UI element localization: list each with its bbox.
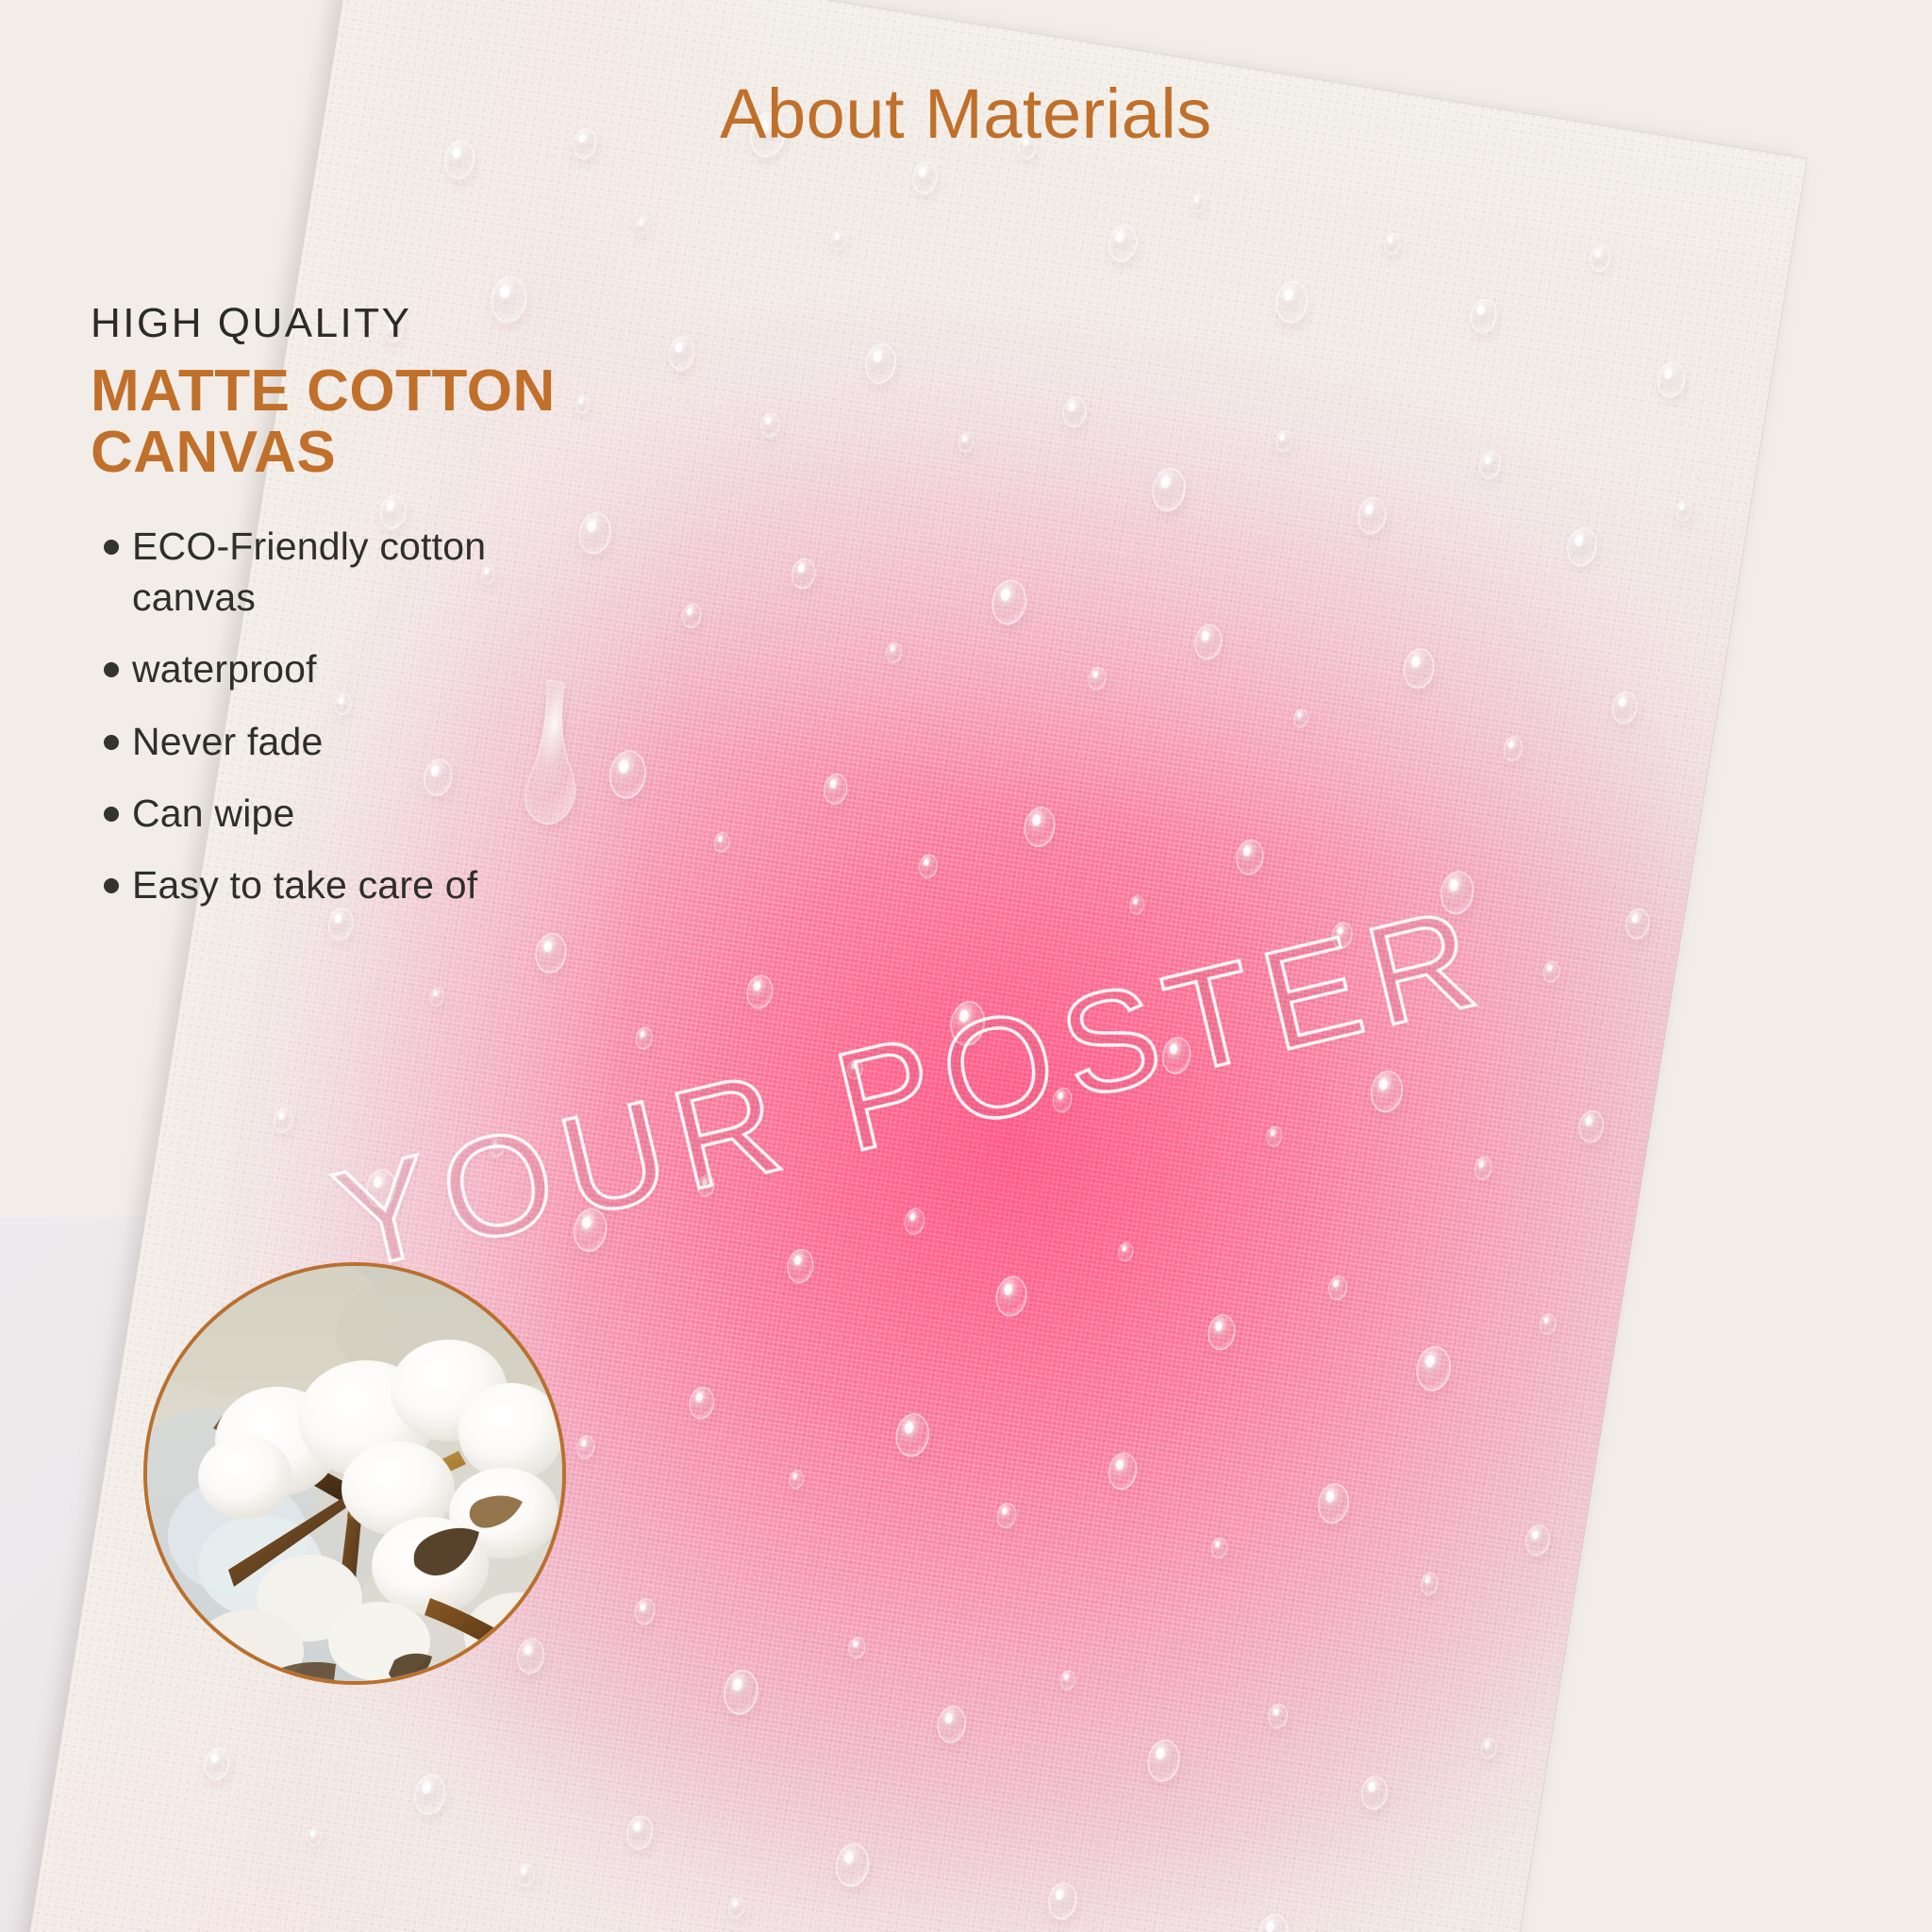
feature-label: Easy to take care of <box>132 859 477 910</box>
list-item: Easy to take care of <box>104 859 770 910</box>
left-info-panel: HIGH QUALITY MATTE COTTON CANVAS ECO-Fri… <box>91 300 770 931</box>
feature-label: ECO-Friendly cotton canvas <box>132 521 538 623</box>
bullet-dot-icon <box>104 878 119 893</box>
page-title: About Materials <box>0 74 1932 154</box>
material-headline: MATTE COTTON CANVAS <box>91 360 741 483</box>
list-item: Never fade <box>104 716 770 767</box>
bullet-dot-icon <box>104 807 119 822</box>
list-item: ECO-Friendly cotton canvas <box>104 521 770 623</box>
bullet-dot-icon <box>104 662 119 677</box>
bullet-dot-icon <box>104 735 119 750</box>
feature-label: Never fade <box>132 716 324 767</box>
feature-label: waterproof <box>132 643 317 694</box>
eyebrow-label: HIGH QUALITY <box>91 300 770 347</box>
cotton-boll-swatch <box>143 1262 566 1685</box>
cotton-boll-photo-icon <box>147 1266 562 1681</box>
feature-list: ECO-Friendly cotton canvas waterproof Ne… <box>104 521 770 910</box>
bullet-dot-icon <box>104 540 119 555</box>
list-item: waterproof <box>104 643 770 694</box>
poster-mockup-stage: YOUR POSTER About Materials HIGH QUALITY… <box>0 0 1932 1932</box>
list-item: Can wipe <box>104 788 770 839</box>
feature-label: Can wipe <box>132 788 295 839</box>
